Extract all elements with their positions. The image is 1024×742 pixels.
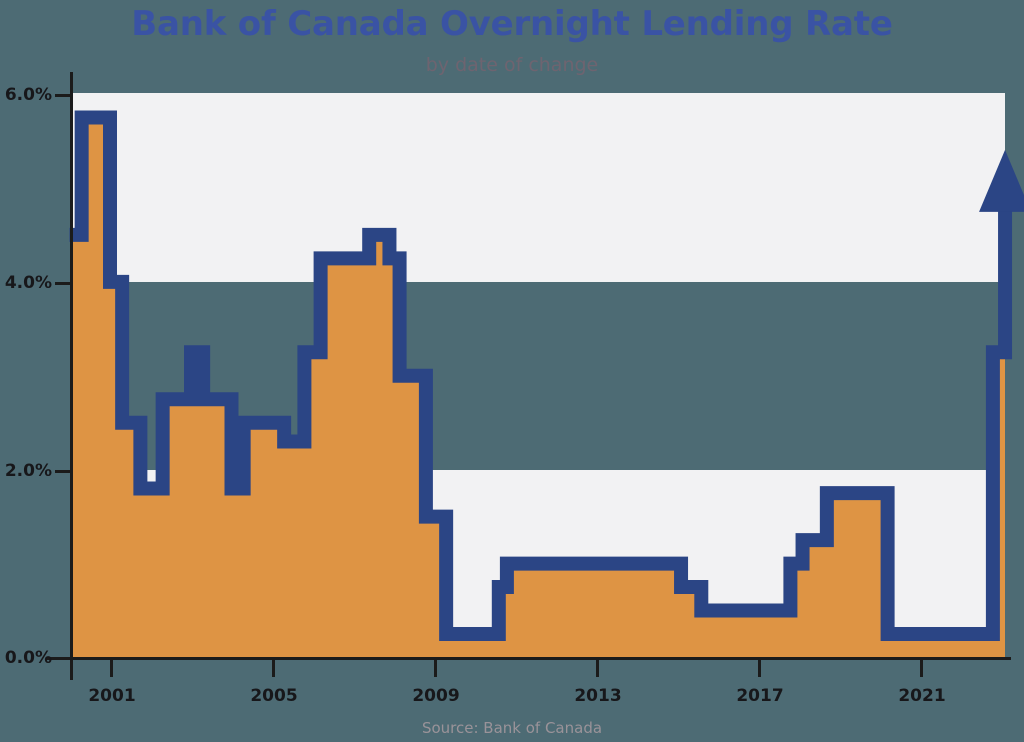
x-tick-2001 xyxy=(110,660,113,677)
y-tick-label-4: 4.0% xyxy=(0,274,52,292)
trend-arrow-icon xyxy=(979,150,1024,212)
x-tick-2021 xyxy=(920,660,923,677)
y-tick-label-2: 2.0% xyxy=(0,462,52,480)
x-tick-label-2005: 2005 xyxy=(229,686,319,706)
y-tick-label-6: 6.0% xyxy=(0,86,52,104)
y-tick-6 xyxy=(55,94,70,97)
x-tick-2009 xyxy=(434,660,437,677)
y-tick-2 xyxy=(55,470,70,473)
series-overnight-rate xyxy=(0,0,1024,742)
x-tick-2005 xyxy=(272,660,275,677)
x-tick-2017 xyxy=(758,660,761,677)
y-tick-4 xyxy=(55,282,70,285)
x-tick-label-2021: 2021 xyxy=(877,686,967,706)
x-tick-label-2001: 2001 xyxy=(67,686,157,706)
y-tick-0 xyxy=(55,657,70,660)
x-axis-line xyxy=(46,657,1011,660)
x-tick-label-2017: 2017 xyxy=(715,686,805,706)
y-axis-line xyxy=(70,72,73,680)
chart-canvas: Bank of Canada Overnight Lending Rate by… xyxy=(0,0,1024,742)
x-tick-label-2009: 2009 xyxy=(391,686,481,706)
y-tick-label-0: 0.0% xyxy=(0,649,52,667)
x-tick-label-2013: 2013 xyxy=(553,686,643,706)
source-caption: Source: Bank of Canada xyxy=(0,718,1024,738)
x-tick-2013 xyxy=(596,660,599,677)
